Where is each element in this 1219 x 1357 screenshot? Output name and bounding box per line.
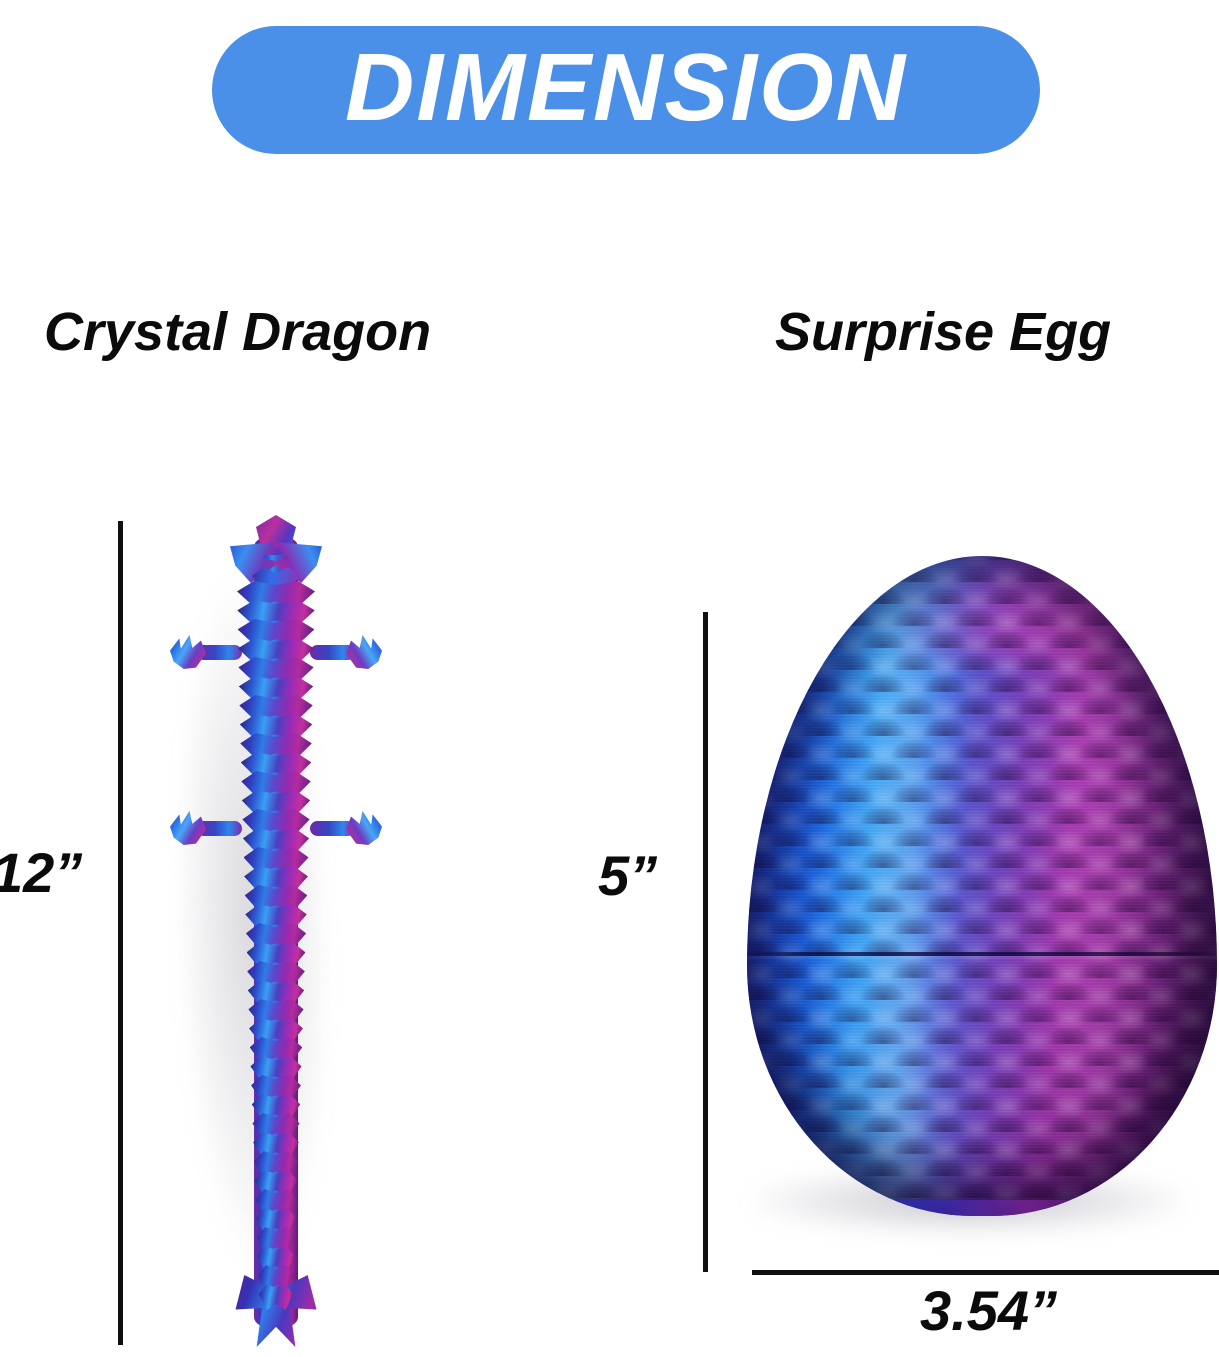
egg-width-rule xyxy=(752,1270,1219,1275)
dimension-infographic: DIMENSION Crystal Dragon Surprise Egg 12… xyxy=(0,0,1219,1357)
banner-title: DIMENSION xyxy=(345,40,907,136)
crystal-dragon-figure xyxy=(168,515,384,1347)
product-title-surprise-egg: Surprise Egg xyxy=(775,305,1111,359)
egg-height-rule xyxy=(703,612,708,1272)
dragon-hindleg-right xyxy=(310,811,382,845)
dragon-hindleg-left xyxy=(170,811,242,845)
dragon-head xyxy=(230,515,322,595)
egg-width-label: 3.54” xyxy=(920,1283,1057,1339)
dragon-foreleg-right xyxy=(310,635,382,669)
dragon-foreleg-left xyxy=(170,635,242,669)
dimension-banner: DIMENSION xyxy=(212,26,1040,154)
dragon-height-rule xyxy=(118,521,123,1345)
product-title-crystal-dragon: Crystal Dragon xyxy=(44,305,431,359)
egg-height-label: 5” xyxy=(598,848,657,904)
surprise-egg-figure xyxy=(742,556,1219,1256)
dragon-height-label: 12” xyxy=(0,845,82,901)
egg-body xyxy=(747,556,1217,1216)
